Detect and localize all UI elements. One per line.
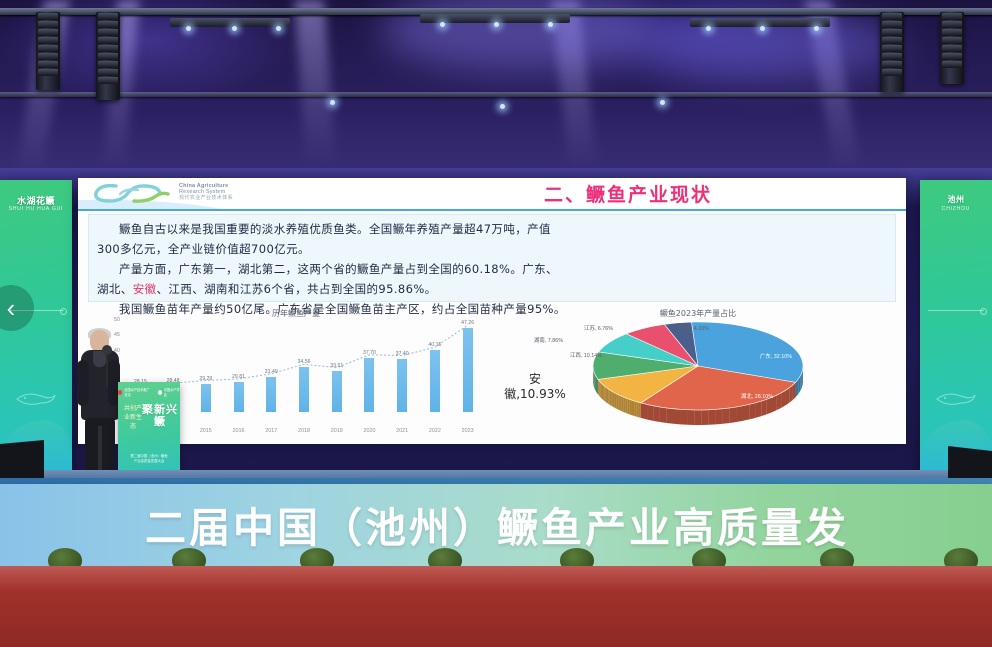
body-text: 、江西、湖南和江苏6个省，共占到全国的95.86%。	[157, 282, 437, 296]
pie-label-anhui: 安徽,10.93%	[504, 372, 566, 402]
right-pillar-title: 池州	[920, 194, 992, 205]
podium: 全国水产技术推广总站 中国水产学会 聚新兴鳜 共创产业新生态 第二届中国（池州）…	[118, 382, 180, 480]
body-text: 湖北、	[97, 282, 133, 296]
stage-lamp	[330, 100, 335, 105]
line-array-speaker	[940, 12, 964, 84]
podium-headline: 聚新兴鳜	[140, 404, 180, 428]
bar-value-label: 29.29	[199, 376, 212, 382]
right-pillar-subtitle: CHIZHOU	[920, 206, 992, 212]
slide-header: China Agriculture Research System 现代农业产业…	[78, 178, 906, 210]
logo-dot-icon	[158, 390, 162, 395]
left-pillar-subtitle: SHUI HU HUA GUI	[0, 206, 72, 212]
stage-lamp	[814, 26, 819, 31]
podium-logos: 全国水产技术推广总站 中国水产学会	[118, 387, 180, 397]
bar-chart-bar	[332, 371, 342, 412]
bar-value-label: 31.49	[265, 369, 278, 375]
bar-chart-x-tick: 2023	[462, 428, 474, 434]
bar-chart-bar	[364, 358, 374, 412]
bar-value-label: 37.40	[396, 351, 409, 357]
highlighted-text: 安徽	[133, 282, 157, 296]
logo-dot-icon	[118, 390, 122, 395]
bar-chart-bar	[463, 328, 473, 412]
bar-chart-bar	[234, 382, 244, 412]
podium-subline: 共创产业新生态	[122, 404, 144, 431]
pillar-divider-line	[928, 310, 984, 311]
stage-lamp	[276, 26, 281, 31]
ceiling-truss	[0, 92, 992, 97]
bar-chart-bar	[266, 377, 276, 412]
stage-monitor-speaker	[0, 440, 44, 480]
bar-chart-bar	[430, 350, 440, 412]
podium-logo-right: 中国水产学会	[158, 387, 181, 397]
slide-body-line: 湖北、安徽、江西、湖南和江苏6个省，共占到全国的95.86%。	[97, 279, 887, 299]
bar-chart-x-tick: 2016	[233, 428, 245, 434]
stage-lamp	[232, 26, 237, 31]
pie-chart: 鳜鱼2023年产量占比 安徽,10.93% 广东, 32.10%湖北, 28.1…	[498, 306, 898, 444]
logo-line-3: 现代农业产业技术体系	[179, 196, 233, 201]
podium-logo-left-text: 全国水产技术推广总站	[124, 387, 151, 397]
person-legs	[85, 418, 115, 476]
bar-chart-x-tick: 2021	[396, 428, 408, 434]
body-text: 鳜鱼自古以来是我国重要的淡水养殖优质鱼类。全国鳜年养殖产量超47万吨，产值	[119, 222, 551, 236]
fish-icon	[935, 390, 977, 408]
pie-slice-label: 湖南, 7.86%	[534, 336, 563, 344]
stage-lamp	[548, 22, 553, 27]
fish-icon	[15, 390, 57, 408]
pie-slice-label: 广东, 32.10%	[760, 352, 792, 360]
stage-lamp	[440, 22, 445, 27]
bar-chart-x-tick: 2015	[200, 428, 212, 434]
bar-chart-x-tick: 2019	[331, 428, 343, 434]
cars-logo-text: China Agriculture Research System 现代农业产业…	[179, 184, 233, 201]
presentation-slide: China Agriculture Research System 现代农业产业…	[78, 178, 906, 444]
bar-chart-bar	[299, 367, 309, 412]
chevron-left-icon: ‹	[7, 295, 16, 321]
bar-value-label: 33.51	[330, 363, 343, 369]
bar-chart-y-tick: 50	[114, 317, 120, 323]
slide-body-textbox: 鳜鱼自古以来是我国重要的淡水养殖优质鱼类。全国鳜年养殖产量超47万吨，产值300…	[88, 214, 896, 302]
spot-beam	[294, 0, 336, 165]
stage-lamp	[186, 26, 191, 31]
person-left-arm	[77, 360, 89, 406]
bar-chart-x-tick: 2018	[298, 428, 310, 434]
podium-footer: 第二届中国（池州）鳜鱼 产业高质量发展大会	[118, 454, 180, 464]
stage-monitor-speaker	[948, 446, 992, 482]
stage-lamp	[660, 100, 665, 105]
podium-logo-right-text: 中国水产学会	[164, 387, 180, 397]
stage-lamp	[760, 26, 765, 31]
body-text: 产量方面，广东第一，湖北第二，这两个省的鳜鱼产量占到全国的60.18%。广东、	[119, 262, 558, 276]
stage-lamp	[494, 22, 499, 27]
slide-body-line: 300多亿元，全产业链价值超700亿元。	[97, 239, 887, 259]
bar-chart-x-tick: 2017	[265, 428, 277, 434]
line-array-speaker	[36, 12, 60, 90]
body-text: 300多亿元，全产业链价值超700亿元。	[97, 242, 310, 256]
bar-value-label: 34.56	[298, 359, 311, 365]
slide-body-line: 产量方面，广东第一，湖北第二，这两个省的鳜鱼产量占到全国的60.18%。广东、	[97, 259, 887, 279]
line-array-speaker	[96, 12, 120, 100]
speaker-person	[78, 330, 122, 480]
venue-banner-text: 二届中国（池州）鳜鱼产业高质量发	[0, 494, 992, 554]
cars-logo-icon	[90, 182, 174, 204]
bar-chart-bar	[201, 384, 211, 412]
pie-slice-label: 其他, 4.20%	[680, 324, 709, 332]
bar-chart-title: 历年鳜鱼产量	[96, 306, 496, 319]
stage-lamp	[500, 104, 505, 109]
stage-lamp	[706, 26, 711, 31]
conference-stage-scene: 水湖花鳜 SHUI HU HUA GUI 池州 CHIZHOU ‹ ›	[0, 0, 992, 647]
slide-body-line: 鳜鱼自古以来是我国重要的淡水养殖优质鱼类。全国鳜年养殖产量超47万吨，产值	[97, 219, 887, 239]
podium-logo-left: 全国水产技术推广总站	[118, 387, 152, 397]
bar-value-label: 37.70	[363, 350, 376, 356]
bar-chart-x-tick: 2022	[429, 428, 441, 434]
bar-chart-bar	[397, 359, 407, 412]
line-array-speaker	[880, 12, 904, 92]
bar-value-label: 40.15	[428, 342, 441, 348]
bar-value-label: 29.81	[232, 374, 245, 380]
pie-slice-label: 湖北, 28.10%	[741, 392, 773, 400]
microphone	[106, 352, 108, 386]
slide-charts: 历年鳜鱼产量 50454035302520 28.15201328.482014…	[78, 306, 906, 444]
bar-value-label: 47.26	[461, 320, 474, 326]
pie-slice-label: 江西, 10.14%	[570, 351, 602, 359]
ceiling-truss-area	[0, 0, 992, 180]
cars-logo: China Agriculture Research System 现代农业产业…	[90, 182, 233, 204]
podium-footer-line-2: 产业高质量发展大会	[118, 459, 180, 464]
bar-chart-x-tick: 2020	[363, 428, 375, 434]
right-banner-pillar: 池州 CHIZHOU	[920, 180, 992, 480]
slide-title: 二、鳜鱼产业现状	[393, 180, 863, 207]
pie-slice-label: 江苏, 6.76%	[584, 324, 613, 332]
header-rule	[78, 209, 906, 211]
floor-highlight	[0, 566, 992, 590]
